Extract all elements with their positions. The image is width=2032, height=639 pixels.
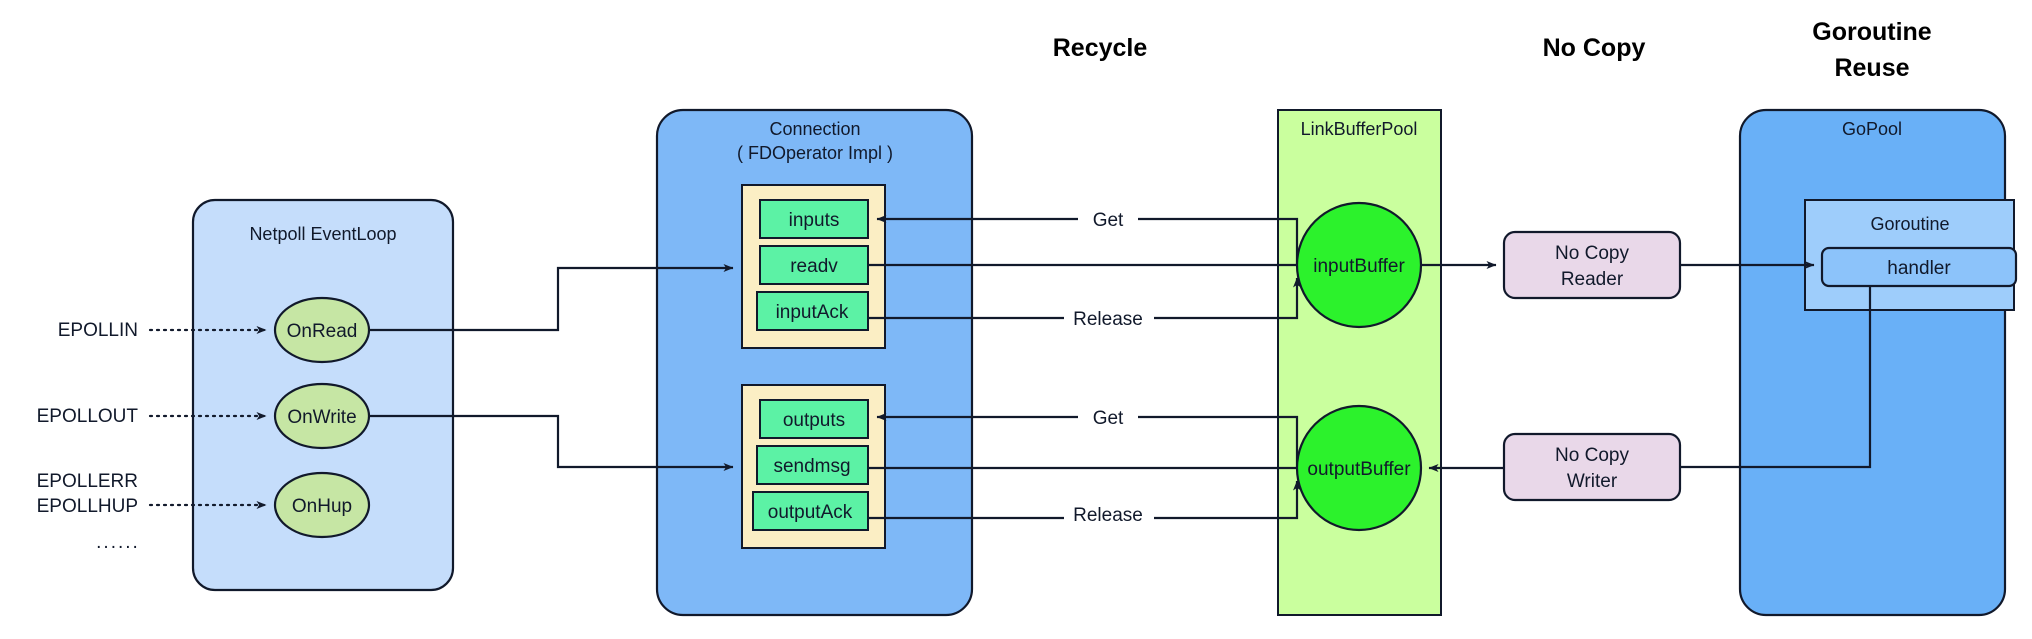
- signal-epollhup-label: EPOLLHUP: [37, 496, 138, 517]
- signal-epollout-label: EPOLLOUT: [37, 406, 139, 427]
- handler-box-label: handler: [1887, 258, 1951, 279]
- no-copy-writer-line2: Writer: [1567, 471, 1618, 492]
- handler-onread-label: OnRead: [287, 321, 358, 342]
- no-copy-writer-line1: No Copy: [1555, 445, 1629, 466]
- signal-epollin-label: EPOLLIN: [58, 320, 138, 341]
- gopool-container: [1740, 110, 2005, 615]
- netpoll-eventloop-title: Netpoll EventLoop: [249, 224, 396, 244]
- heading-recycle: Recycle: [1053, 34, 1148, 62]
- linkbufferpool-container: [1278, 110, 1441, 615]
- signal-epollerr-label: EPOLLERR: [37, 471, 138, 492]
- edge-label-get-input: Get: [1093, 210, 1124, 231]
- diagram-canvas: Recycle No Copy Goroutine Reuse Netpoll …: [0, 0, 2032, 639]
- handler-onwrite-label: OnWrite: [287, 407, 356, 428]
- edge-label-release-input: Release: [1073, 309, 1143, 330]
- handler-onhup-label: OnHup: [292, 496, 352, 517]
- buffer-outputbuffer-label: outputBuffer: [1307, 459, 1411, 480]
- connection-item-readv-label: readv: [790, 256, 838, 277]
- connection-item-inputs-label: inputs: [789, 210, 840, 231]
- signal-ellipsis-label: ......: [96, 532, 140, 553]
- edge-label-release-output: Release: [1073, 505, 1143, 526]
- buffer-inputbuffer-label: inputBuffer: [1313, 256, 1405, 277]
- heading-goroutine-reuse-line2: Reuse: [1834, 54, 1909, 82]
- netpoll-architecture-diagram: Recycle No Copy Goroutine Reuse Netpoll …: [0, 0, 2032, 639]
- no-copy-reader-line1: No Copy: [1555, 243, 1629, 264]
- heading-no-copy: No Copy: [1543, 34, 1646, 62]
- goroutine-title: Goroutine: [1870, 214, 1949, 234]
- heading-goroutine-reuse-line1: Goroutine: [1812, 18, 1932, 46]
- connection-item-inputack-label: inputAck: [776, 302, 849, 323]
- edge-label-get-output: Get: [1093, 408, 1124, 429]
- connection-item-outputs-label: outputs: [783, 410, 845, 431]
- connection-item-sendmsg-label: sendmsg: [773, 456, 850, 477]
- no-copy-reader-line2: Reader: [1561, 269, 1624, 290]
- connection-title-line2: ( FDOperator Impl ): [737, 143, 893, 163]
- connection-item-outputack-label: outputAck: [768, 502, 853, 523]
- gopool-title: GoPool: [1842, 119, 1902, 139]
- linkbufferpool-title: LinkBufferPool: [1301, 119, 1418, 139]
- connection-title-line1: Connection: [769, 119, 860, 139]
